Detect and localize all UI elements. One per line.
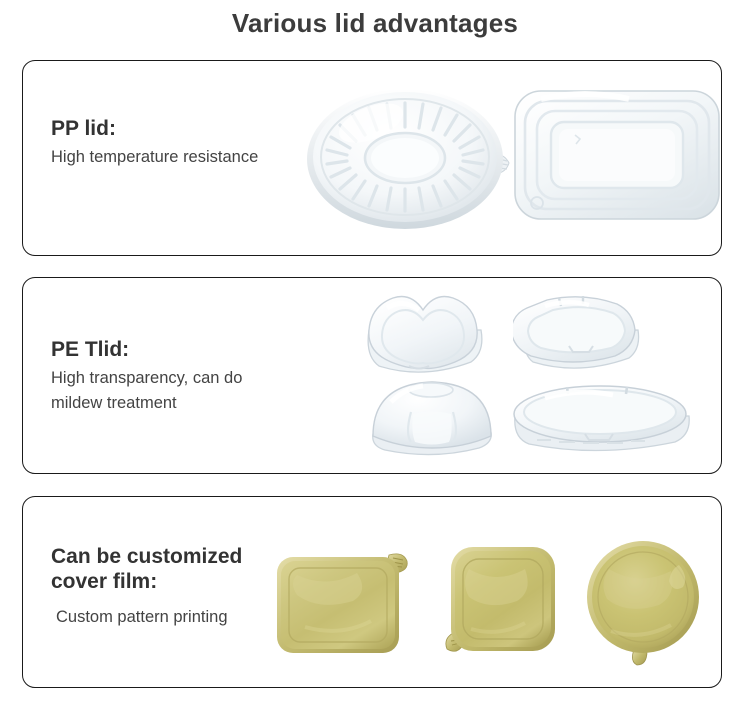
page-title: Various lid advantages [0, 8, 750, 39]
panel-pet-lid: PE Tlid: High transparency, can do milde… [22, 277, 722, 474]
custom-cover-film-description: Custom pattern printing [56, 605, 242, 631]
dome-pet-lid-image [367, 376, 497, 458]
heart-shaped-pet-lid-image [353, 288, 493, 383]
rectangular-pp-lid-image [501, 77, 733, 235]
square-pet-lid-image [513, 288, 648, 380]
panel-pp-lid: PP lid: High temperature resistance [22, 60, 722, 256]
custom-cover-film-text-block: Can be customized cover film: Custom pat… [51, 545, 242, 630]
gold-square-foil-lid-image [443, 541, 568, 663]
pet-lid-heading: PE Tlid: [51, 338, 242, 363]
pp-lid-description: High temperature resistance [51, 145, 258, 171]
pp-lid-heading: PP lid: [51, 117, 258, 142]
pet-lid-text-block: PE Tlid: High transparency, can do milde… [51, 338, 242, 417]
oval-pet-lid-image [507, 378, 697, 458]
infographic-page: Various lid advantages [0, 0, 750, 713]
round-pp-lid-image [305, 83, 520, 235]
gold-round-foil-lid-image [583, 539, 711, 667]
pp-lid-text-block: PP lid: High temperature resistance [51, 117, 258, 170]
panel-custom-cover-film: Can be customized cover film: Custom pat… [22, 496, 722, 688]
custom-cover-film-heading: Can be customized cover film: [51, 545, 242, 595]
pet-lid-description: High transparency, can do mildew treatme… [51, 366, 242, 417]
gold-rectangular-foil-lid-image [271, 545, 423, 661]
